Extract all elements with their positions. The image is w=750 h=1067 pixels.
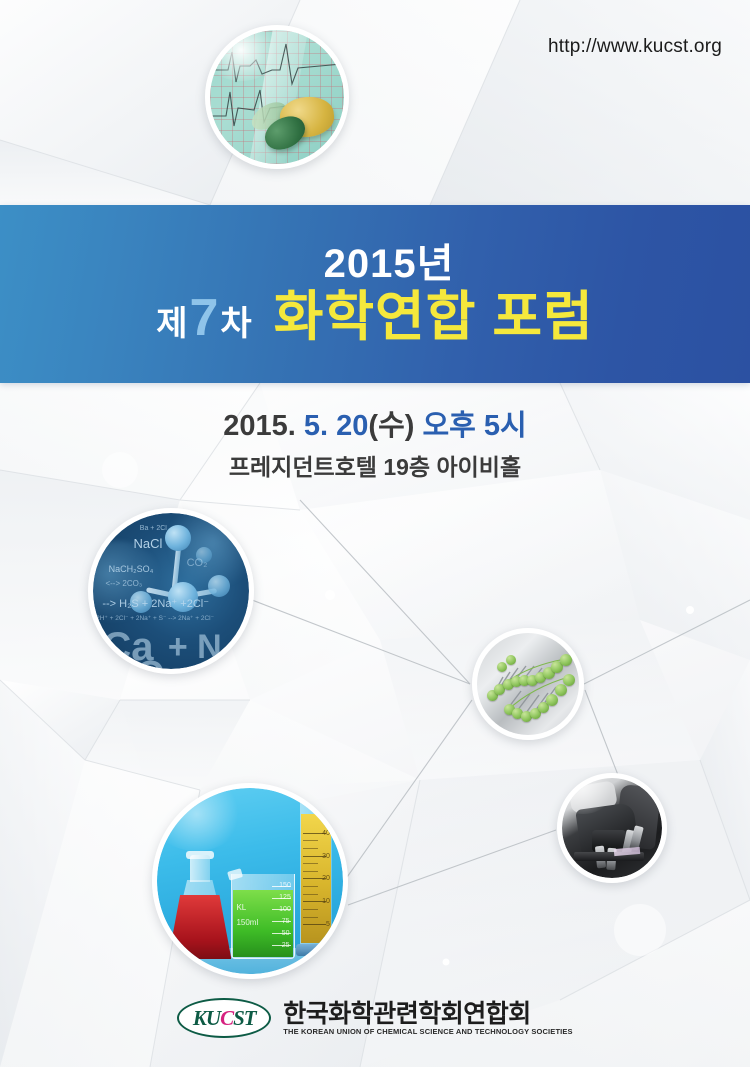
banner-ordinal-suffix: 차 — [220, 307, 251, 341]
poster-canvas: http://www.kucst.org 2015년 제 7 차 화학연합 포럼… — [0, 0, 750, 1067]
event-date-weekday: (수) — [368, 410, 414, 442]
organization-logo[interactable]: KUCST 한국화학관련학회연합회 THE KOREAN UNION OF CH… — [0, 998, 750, 1038]
photo-chemistry: Ba + 2Cl NaCl NaCH₂SO₄ <--> 2CO₃ --> H₂S… — [88, 508, 254, 674]
event-venue: 프레지던트호텔 19층 아이비홀 — [0, 456, 750, 479]
event-date: 2015. 5. 20(수) 오후 5시 — [0, 412, 750, 441]
logo-name-korean: 한국화학관련학회연합회 — [283, 1001, 572, 1027]
event-date-year: 2015. — [223, 410, 296, 442]
website-url[interactable]: http://www.kucst.org — [548, 36, 722, 58]
banner-ordinal-prefix: 제 — [156, 307, 187, 341]
graduated-cylinder: 40 30 20 10 5 ml — [300, 799, 332, 952]
banner-ordinal-number: 7 — [187, 292, 220, 344]
title-banner: 2015년 제 7 차 화학연합 포럼 — [0, 205, 750, 383]
logo-name-english: THE KOREAN UNION OF CHEMICAL SCIENCE AND… — [283, 1028, 572, 1036]
event-date-time: 오후 5시 — [422, 410, 526, 442]
photo-pills-ecg — [205, 25, 349, 169]
photo-lab-glassware: 150 125 100 75 50 25 KL 150ml — [152, 783, 348, 979]
banner-year: 2015년 — [296, 244, 455, 284]
kucst-logo-mark: KUCST — [177, 998, 271, 1038]
banner-title: 화학연합 포럼 — [274, 290, 594, 344]
photo-microscope — [557, 773, 667, 883]
beaker: 150 125 100 75 50 25 KL 150ml — [231, 874, 294, 960]
logo-text-block: 한국화학관련학회연합회 THE KOREAN UNION OF CHEMICAL… — [283, 1001, 572, 1036]
logo-mark-st: ST — [233, 1008, 256, 1029]
logo-mark-c: C — [220, 1008, 233, 1029]
event-date-monthday: 5. 20 — [304, 410, 369, 442]
erlenmeyer-flask — [168, 855, 231, 959]
photo-dna-helix — [472, 628, 584, 740]
banner-title-row: 제 7 차 화학연합 포럼 — [156, 290, 594, 344]
logo-mark-ku: KU — [193, 1008, 220, 1029]
